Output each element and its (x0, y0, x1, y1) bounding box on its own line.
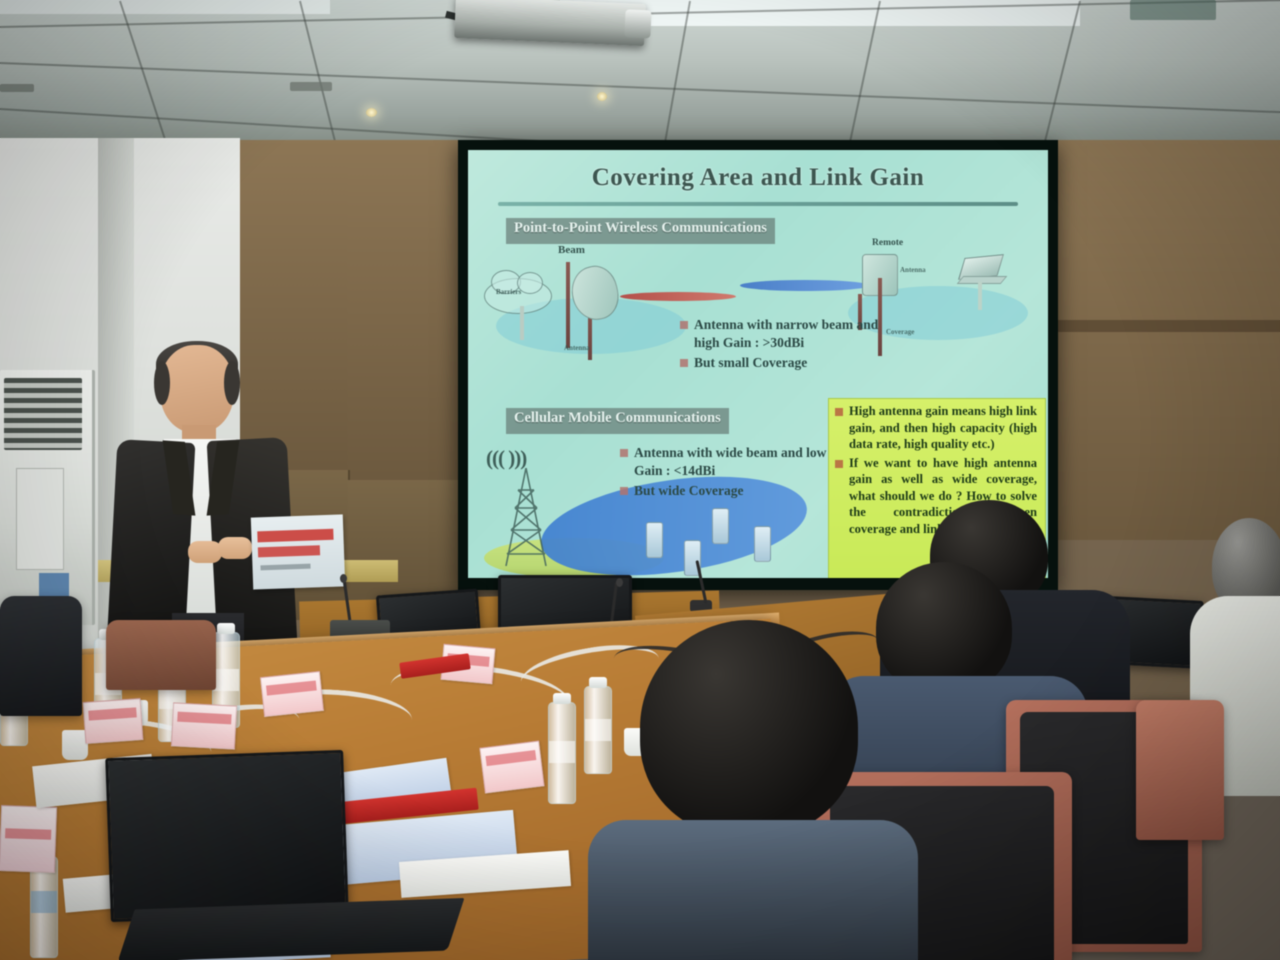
ceiling-panel (1130, 0, 1216, 20)
barrier-cloud-shape (484, 278, 552, 314)
slide-title: Covering Area and Link Gain (468, 164, 1048, 192)
diagram-label-antenna: Antenna (564, 344, 590, 352)
chair (106, 620, 216, 690)
diagram-label-beam: Beam (558, 244, 585, 256)
air-conditioner-unit (0, 370, 95, 625)
name-card-text (88, 707, 137, 720)
name-card (83, 698, 144, 744)
bullet-square-icon (835, 408, 843, 416)
bullets-point-to-point: Antenna with narrow beam and high Gain :… (680, 316, 904, 374)
projector-lens (624, 9, 651, 38)
title-underline (498, 202, 1018, 206)
water-bottle (548, 702, 576, 804)
presenter-head (160, 345, 234, 433)
audience-head (640, 620, 858, 836)
water-bottle (584, 686, 612, 774)
bullet-item: But wide Coverage (620, 482, 844, 500)
chair-dark (0, 596, 82, 716)
diagram-label-barriers: Barriers (496, 288, 521, 296)
bottle-cap (589, 677, 607, 688)
wood-panel (348, 140, 462, 480)
diagram-label-antenna-right: Antenna (900, 266, 926, 274)
bullet-item: High antenna gain means high link gain, … (835, 403, 1037, 453)
bottle-label (549, 741, 575, 763)
section-header-cellular: Cellular Mobile Communications (506, 408, 729, 434)
bottle-cap (217, 623, 235, 634)
wall-poster (251, 514, 345, 589)
antenna-mast-left (566, 262, 570, 348)
bullet-item: Antenna with narrow beam and high Gain :… (680, 316, 904, 352)
microphone-head (340, 574, 347, 583)
conference-room-photo: Covering Area and Link Gain Point-to-Poi… (0, 0, 1280, 960)
wall-trim (1058, 320, 1280, 332)
section-header-point-to-point: Point-to-Point Wireless Communications (506, 218, 775, 244)
ceiling-light (366, 108, 377, 117)
name-card-text (485, 750, 536, 766)
name-card-text (5, 828, 51, 840)
ceiling-grid-line (0, 62, 1280, 114)
name-card (0, 805, 57, 873)
poster-red-text-line (258, 545, 320, 557)
bullet-square-icon (680, 359, 688, 367)
laptop-icon-stand (978, 282, 982, 310)
audience-shoulders (588, 820, 918, 960)
bottle-label (31, 891, 57, 913)
poster-red-text-line (257, 529, 333, 543)
bullet-square-icon (620, 487, 628, 495)
presenter-hair-side (224, 361, 240, 405)
name-card-text (177, 712, 231, 725)
bullet-text: But wide Coverage (634, 482, 743, 500)
bullet-square-icon (680, 321, 688, 329)
bullet-square-icon (620, 449, 628, 457)
wood-panel (1178, 140, 1280, 540)
ceiling-vent (290, 82, 332, 91)
cell-tower-icon (496, 468, 556, 568)
name-card (479, 741, 544, 794)
laptop-keyboard (118, 898, 465, 960)
ac-vent-grille (4, 378, 82, 450)
bullet-text: But small Coverage (694, 354, 807, 372)
bullet-item: But small Coverage (680, 354, 904, 372)
poster-subtext (260, 564, 310, 571)
microphone-head (616, 578, 623, 587)
wood-panel (1058, 140, 1180, 540)
name-card (260, 671, 324, 717)
bottle-cap (553, 693, 571, 704)
ceiling-skylight-2 (0, 0, 330, 14)
mobile-phone-icon (646, 522, 663, 558)
bottle-label (585, 719, 611, 741)
mobile-phone-icon (712, 508, 729, 544)
ceiling-vent (0, 84, 34, 92)
chair (1136, 700, 1224, 840)
name-card-text (266, 680, 317, 695)
name-card (171, 702, 237, 749)
presenter-hand (218, 537, 252, 559)
bullet-item: Antenna with wide beam and low Gain : <1… (620, 444, 844, 480)
presenter-hand (188, 541, 222, 563)
barrier-pole (520, 306, 524, 340)
bullets-cellular: Antenna with wide beam and low Gain : <1… (620, 444, 844, 502)
diagram-label-remote: Remote (872, 238, 903, 248)
bottle-label (213, 669, 239, 691)
presenter-hair-side (154, 361, 170, 405)
audience-head (876, 562, 1012, 694)
narrow-beam-red (620, 292, 736, 301)
bullet-text: High antenna gain means high link gain, … (849, 403, 1037, 453)
bullet-text: Antenna with narrow beam and high Gain :… (694, 316, 904, 352)
bullet-text: Antenna with wide beam and low Gain : <1… (634, 444, 844, 480)
bullet-square-icon (835, 460, 843, 468)
mobile-phone-icon (754, 526, 771, 562)
ac-control-panel (16, 468, 64, 570)
ceiling-light (597, 92, 607, 101)
laptop-screen (105, 750, 349, 922)
laptop-icon-base (957, 276, 1008, 284)
narrow-beam-blue (740, 280, 870, 291)
